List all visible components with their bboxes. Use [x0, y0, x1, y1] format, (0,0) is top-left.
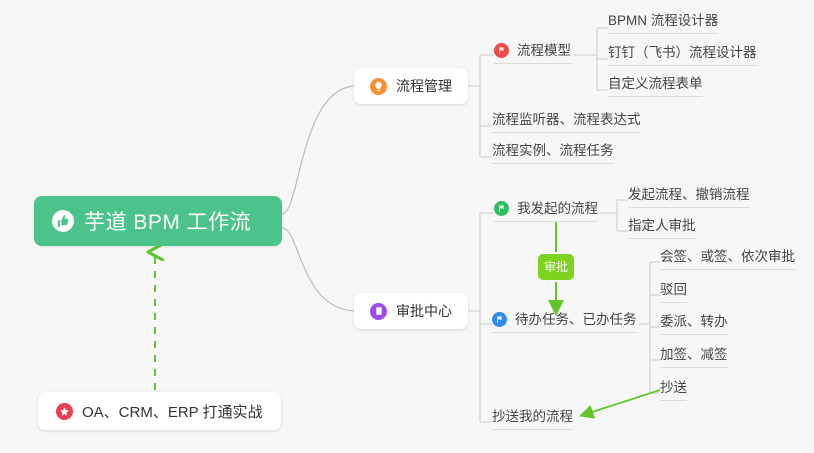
node-cc-to-me[interactable]: 抄送我的流程 [492, 410, 573, 430]
leaf-add-remove-sign[interactable]: 加签、减签 [660, 348, 728, 368]
branch-process-management-label: 流程管理 [396, 76, 452, 96]
leaf-cc-label: 抄送 [660, 381, 687, 395]
thumbs-up-icon [52, 210, 74, 232]
leaf-countersign-label: 会签、或签、依次审批 [660, 250, 795, 264]
leaf-process-listener[interactable]: 流程监听器、流程表达式 [492, 113, 641, 133]
flag-icon [494, 201, 509, 216]
flag-icon [492, 312, 507, 327]
branch-approval-center-label: 审批中心 [396, 301, 452, 321]
branch-approval-center[interactable]: 审批中心 [354, 293, 468, 329]
leaf-reject[interactable]: 驳回 [660, 283, 687, 303]
leaf-cc[interactable]: 抄送 [660, 381, 687, 401]
leaf-assigned-approver-label: 指定人审批 [628, 219, 696, 233]
approval-badge[interactable]: 审批 [538, 254, 574, 280]
leaf-reject-label: 驳回 [660, 283, 687, 297]
node-cc-to-me-label: 抄送我的流程 [492, 410, 573, 424]
mindmap-canvas: 芋道 BPM 工作流 流程管理 审批中心 流程模型 BPMN 流程设计器 [0, 0, 814, 453]
leaf-delegate-transfer-label: 委派、转办 [660, 315, 728, 329]
leaf-dingtalk-designer[interactable]: 钉钉（飞书）流程设计器 [608, 46, 757, 66]
leaf-bpmn-designer[interactable]: BPMN 流程设计器 [608, 14, 718, 34]
leaf-custom-form-label: 自定义流程表单 [608, 77, 703, 91]
leaf-process-instance-label: 流程实例、流程任务 [492, 144, 614, 158]
node-my-initiated-label: 我发起的流程 [517, 202, 598, 216]
node-process-model-label: 流程模型 [517, 44, 571, 58]
card-integration-label: OA、CRM、ERP 打通实战 [82, 401, 263, 422]
node-my-initiated[interactable]: 我发起的流程 [494, 201, 598, 222]
leaf-delegate-transfer[interactable]: 委派、转办 [660, 315, 728, 335]
approval-badge-label: 审批 [544, 261, 568, 273]
star-icon [56, 403, 73, 420]
clipboard-icon [370, 303, 387, 320]
lightbulb-icon [370, 78, 387, 95]
leaf-assigned-approver[interactable]: 指定人审批 [628, 219, 696, 239]
leaf-dingtalk-designer-label: 钉钉（飞书）流程设计器 [608, 46, 757, 60]
node-todo-done-tasks-label: 待办任务、已办任务 [515, 313, 637, 327]
node-process-model[interactable]: 流程模型 [494, 43, 571, 64]
leaf-add-remove-sign-label: 加签、减签 [660, 348, 728, 362]
leaf-custom-form[interactable]: 自定义流程表单 [608, 77, 703, 97]
flag-icon [494, 43, 509, 58]
root-node[interactable]: 芋道 BPM 工作流 [34, 196, 282, 246]
leaf-countersign[interactable]: 会签、或签、依次审批 [660, 250, 795, 270]
root-label: 芋道 BPM 工作流 [84, 206, 251, 236]
leaf-start-cancel-process[interactable]: 发起流程、撤销流程 [628, 188, 750, 208]
branch-process-management[interactable]: 流程管理 [354, 68, 468, 104]
leaf-start-cancel-process-label: 发起流程、撤销流程 [628, 188, 750, 202]
leaf-process-listener-label: 流程监听器、流程表达式 [492, 113, 641, 127]
node-todo-done-tasks[interactable]: 待办任务、已办任务 [492, 312, 637, 333]
leaf-bpmn-designer-label: BPMN 流程设计器 [608, 14, 718, 28]
leaf-process-instance[interactable]: 流程实例、流程任务 [492, 144, 614, 164]
card-integration[interactable]: OA、CRM、ERP 打通实战 [38, 392, 281, 430]
